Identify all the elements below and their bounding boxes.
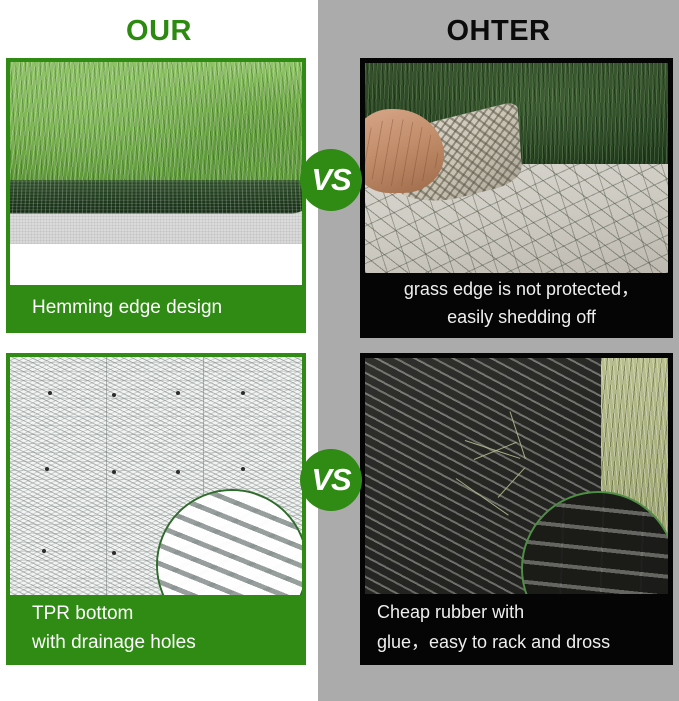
- vs-badge-row1: VS: [300, 149, 362, 211]
- drainage-hole: [112, 470, 116, 474]
- our-caption-row2: TPR bottom with drainage holes: [10, 595, 302, 661]
- header-other: OHTER: [318, 14, 679, 48]
- caption-line: Hemming edge design: [32, 295, 302, 320]
- caption-line: grass edge is not protected，: [375, 275, 668, 303]
- other-card-cheap-rubber: Cheap rubber with glue，easy to rack and …: [360, 353, 673, 665]
- caption-line: with drainage holes: [32, 628, 302, 657]
- turf-bad-illustration: [365, 63, 668, 273]
- caption-line: Cheap rubber with: [377, 597, 668, 627]
- hemmed-edge-binding: [10, 180, 302, 212]
- our-card-hemming-edge: Hemming edge design: [6, 58, 306, 333]
- drainage-hole: [241, 391, 245, 395]
- other-caption-row2: Cheap rubber with glue，easy to rack and …: [365, 594, 668, 660]
- turf-good-illustration: [10, 62, 302, 244]
- seam-line: [106, 357, 107, 597]
- caption-line: easily shedding off: [375, 303, 668, 331]
- other-photo-shedding-edge: [365, 63, 668, 273]
- other-card-shedding-edge: grass edge is not protected， easily shed…: [360, 58, 673, 338]
- vs-badge-row2: VS: [300, 449, 362, 511]
- magnified-rubber-texture: [523, 493, 668, 598]
- other-caption-row1: grass edge is not protected， easily shed…: [365, 273, 668, 333]
- our-photo-tpr-bottom: [10, 357, 302, 597]
- magnifier-inset-tpr: [156, 489, 302, 597]
- header-our: OUR: [0, 14, 318, 48]
- magnified-tpr-texture: [158, 491, 302, 597]
- our-photo-hemming-edge: [10, 62, 302, 244]
- caption-line: glue，easy to rack and dross: [377, 627, 668, 657]
- our-card-tpr-bottom: TPR bottom with drainage holes: [6, 353, 306, 665]
- turf-mat: [10, 62, 302, 213]
- our-caption-row1: Hemming edge design: [10, 285, 302, 329]
- caption-line: TPR bottom: [32, 599, 302, 628]
- magnifier-inset-rubber: [521, 491, 668, 598]
- other-photo-cheap-rubber: [365, 358, 668, 598]
- drainage-hole: [48, 391, 52, 395]
